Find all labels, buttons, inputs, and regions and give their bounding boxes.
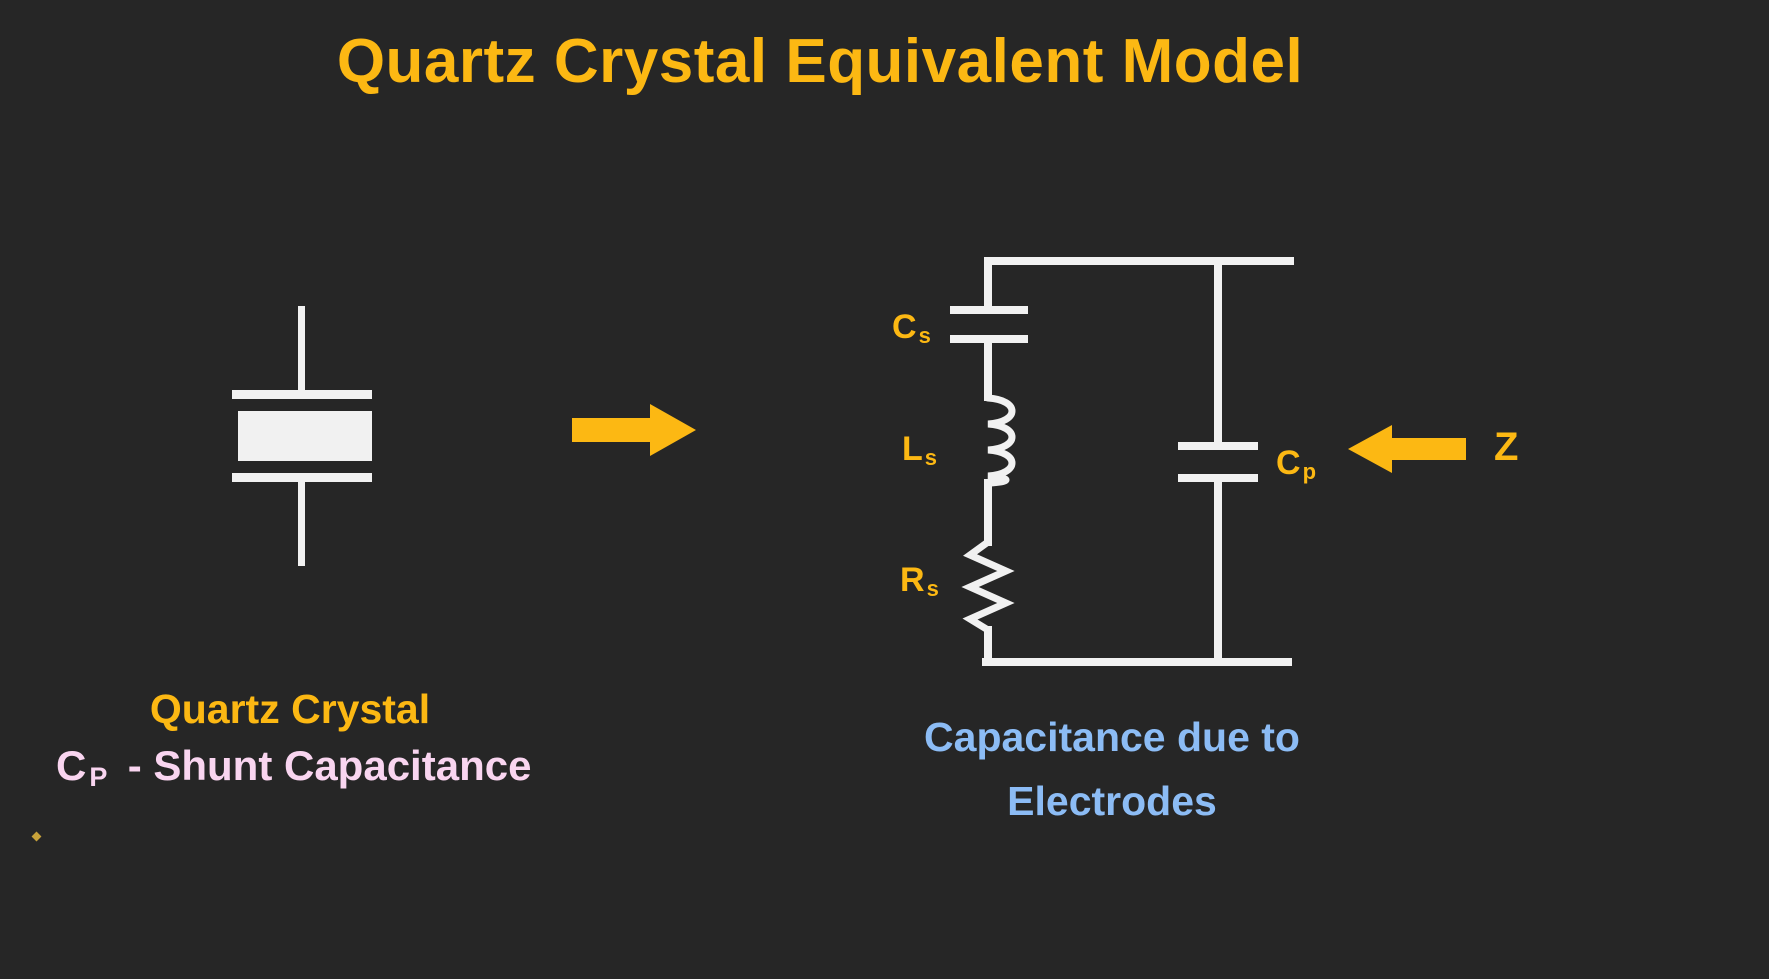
crystal-body-icon bbox=[238, 411, 372, 461]
electrodes-caption-line2: Electrodes bbox=[884, 770, 1340, 834]
capacitor-cp-icon bbox=[1178, 442, 1258, 482]
label-cp: Cp bbox=[1276, 446, 1314, 480]
label-rs-main: R bbox=[900, 561, 925, 599]
label-cp-sub: p bbox=[1303, 459, 1316, 484]
label-cp-main: C bbox=[1276, 444, 1301, 482]
label-rs: Rs bbox=[900, 563, 937, 597]
quartz-crystal-caption: Quartz Crystal bbox=[130, 686, 450, 733]
label-cs-main: C bbox=[892, 308, 917, 346]
inductor-ls-icon bbox=[988, 398, 1012, 483]
shunt-capacitance-caption: CP - Shunt Capacitance bbox=[56, 742, 531, 790]
shunt-symbol: C bbox=[56, 742, 86, 789]
crystal-lead-bottom-icon bbox=[298, 480, 305, 566]
shunt-subscript: P bbox=[89, 762, 107, 792]
resistor-rs-icon bbox=[970, 542, 1006, 630]
page-title: Quartz Crystal Equivalent Model bbox=[0, 26, 1640, 97]
label-ls-sub: s bbox=[925, 445, 937, 470]
shunt-description: - Shunt Capacitance bbox=[128, 742, 532, 789]
crystal-lead-top-icon bbox=[298, 306, 305, 392]
electrodes-caption-line1: Capacitance due to bbox=[884, 706, 1340, 770]
label-rs-sub: s bbox=[927, 576, 939, 601]
label-ls-main: L bbox=[902, 430, 923, 468]
capacitor-cs-icon bbox=[950, 306, 1028, 343]
impedance-label: Z bbox=[1494, 425, 1518, 470]
electrodes-caption: Capacitance due to Electrodes bbox=[884, 706, 1340, 833]
corner-marker-icon bbox=[32, 832, 42, 842]
label-cs-sub: s bbox=[919, 323, 931, 348]
crystal-electrode-plate-top-icon bbox=[232, 390, 372, 399]
label-cs: Cs bbox=[892, 310, 929, 344]
slide-canvas: Quartz Crystal Equivalent Model Quartz C… bbox=[0, 0, 1769, 979]
left-arrow-icon bbox=[1348, 425, 1466, 473]
right-arrow-icon bbox=[572, 404, 696, 456]
quartz-crystal-symbol bbox=[232, 306, 372, 566]
equivalent-circuit-diagram: Cs Ls Rs bbox=[860, 230, 1340, 690]
label-ls: Ls bbox=[902, 432, 935, 466]
